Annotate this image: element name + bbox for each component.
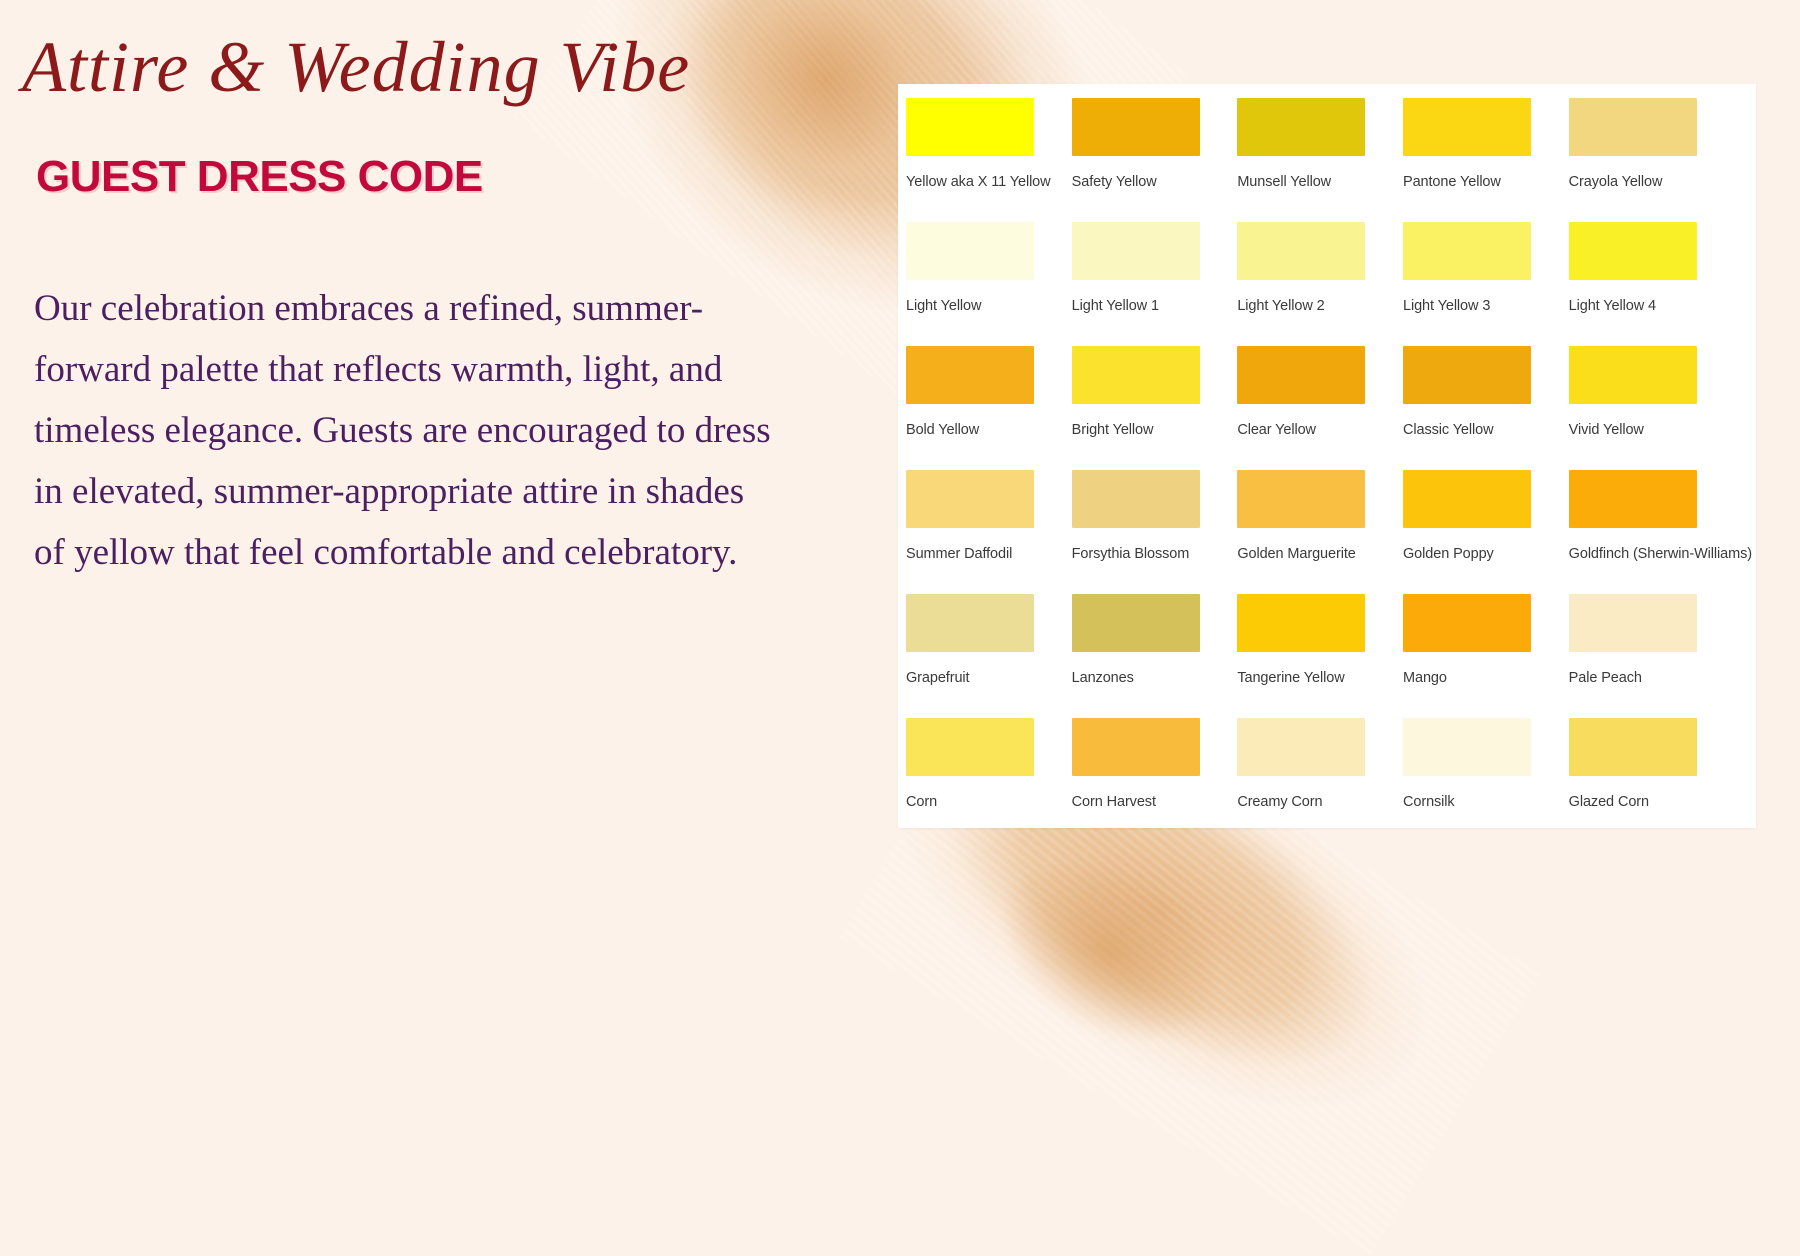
swatch-cell[interactable]: Bright Yellow xyxy=(1072,332,1238,456)
swatch-cell[interactable]: Light Yellow 3 xyxy=(1403,208,1569,332)
swatch-cell[interactable]: Munsell Yellow xyxy=(1237,84,1403,208)
color-swatch[interactable] xyxy=(1403,222,1531,280)
swatch-label: Glazed Corn xyxy=(1569,794,1752,810)
swatch-cell[interactable]: Corn Harvest xyxy=(1072,704,1238,828)
swatch-label: Cornsilk xyxy=(1403,794,1569,810)
swatch-label: Tangerine Yellow xyxy=(1237,670,1403,686)
color-palette-card: Yellow aka X 11 YellowSafety YellowMunse… xyxy=(898,84,1756,828)
swatch-label: Bold Yellow xyxy=(906,422,1072,438)
color-swatch[interactable] xyxy=(1072,470,1200,528)
color-swatch[interactable] xyxy=(1403,470,1531,528)
swatch-label: Goldfinch (Sherwin-Williams) xyxy=(1569,546,1752,562)
color-swatch[interactable] xyxy=(1569,594,1697,652)
section-heading: GUEST DRESS CODE xyxy=(36,152,483,202)
swatch-label: Light Yellow 3 xyxy=(1403,298,1569,314)
swatch-cell[interactable]: Cornsilk xyxy=(1403,704,1569,828)
swatch-cell[interactable]: Crayola Yellow xyxy=(1569,84,1752,208)
text-column: Attire & Wedding Vibe GUEST DRESS CODE O… xyxy=(0,0,880,939)
color-swatch[interactable] xyxy=(906,222,1034,280)
swatch-label: Golden Marguerite xyxy=(1237,546,1403,562)
color-swatch[interactable] xyxy=(1072,346,1200,404)
color-swatch[interactable] xyxy=(1403,98,1531,156)
color-swatch[interactable] xyxy=(1569,346,1697,404)
swatch-label: Lanzones xyxy=(1072,670,1238,686)
swatch-label: Classic Yellow xyxy=(1403,422,1569,438)
page-title: Attire & Wedding Vibe xyxy=(22,30,690,106)
color-swatch[interactable] xyxy=(1237,594,1365,652)
swatch-label: Clear Yellow xyxy=(1237,422,1403,438)
swatch-cell[interactable]: Glazed Corn xyxy=(1569,704,1752,828)
swatch-cell[interactable]: Summer Daffodil xyxy=(906,456,1072,580)
swatch-label: Creamy Corn xyxy=(1237,794,1403,810)
color-swatch[interactable] xyxy=(1072,718,1200,776)
color-swatch[interactable] xyxy=(906,718,1034,776)
color-swatch[interactable] xyxy=(1237,98,1365,156)
swatch-label: Corn Harvest xyxy=(1072,794,1238,810)
swatch-label: Munsell Yellow xyxy=(1237,174,1403,190)
color-swatch[interactable] xyxy=(1569,222,1697,280)
swatch-cell[interactable]: Light Yellow 2 xyxy=(1237,208,1403,332)
color-swatch[interactable] xyxy=(906,470,1034,528)
swatch-cell[interactable]: Goldfinch (Sherwin-Williams) xyxy=(1569,456,1752,580)
swatch-label: Summer Daffodil xyxy=(906,546,1072,562)
swatch-cell[interactable]: Pantone Yellow xyxy=(1403,84,1569,208)
color-swatch[interactable] xyxy=(1237,346,1365,404)
swatch-cell[interactable]: Golden Poppy xyxy=(1403,456,1569,580)
swatch-label: Light Yellow 1 xyxy=(1072,298,1238,314)
color-swatch[interactable] xyxy=(906,594,1034,652)
color-swatch[interactable] xyxy=(1072,594,1200,652)
color-swatch[interactable] xyxy=(1237,470,1365,528)
color-swatch[interactable] xyxy=(1237,718,1365,776)
swatch-grid: Yellow aka X 11 YellowSafety YellowMunse… xyxy=(906,84,1752,828)
swatch-label: Pale Peach xyxy=(1569,670,1752,686)
swatch-cell[interactable]: Classic Yellow xyxy=(1403,332,1569,456)
swatch-cell[interactable]: Vivid Yellow xyxy=(1569,332,1752,456)
brush-stroke-bottom-accent xyxy=(930,784,1291,1115)
swatch-cell[interactable]: Grapefruit xyxy=(906,580,1072,704)
swatch-label: Light Yellow 2 xyxy=(1237,298,1403,314)
color-swatch[interactable] xyxy=(1569,718,1697,776)
swatch-cell[interactable]: Light Yellow xyxy=(906,208,1072,332)
color-swatch[interactable] xyxy=(1403,346,1531,404)
swatch-cell[interactable]: Safety Yellow xyxy=(1072,84,1238,208)
swatch-cell[interactable]: Clear Yellow xyxy=(1237,332,1403,456)
color-swatch[interactable] xyxy=(906,346,1034,404)
body-paragraph: Our celebration embraces a refined, summ… xyxy=(34,278,774,583)
color-swatch[interactable] xyxy=(906,98,1034,156)
swatch-label: Mango xyxy=(1403,670,1569,686)
color-swatch[interactable] xyxy=(1072,222,1200,280)
swatch-cell[interactable]: Golden Marguerite xyxy=(1237,456,1403,580)
swatch-label: Safety Yellow xyxy=(1072,174,1238,190)
swatch-label: Light Yellow 4 xyxy=(1569,298,1752,314)
swatch-cell[interactable]: Tangerine Yellow xyxy=(1237,580,1403,704)
color-swatch[interactable] xyxy=(1403,718,1531,776)
swatch-cell[interactable]: Creamy Corn xyxy=(1237,704,1403,828)
swatch-label: Grapefruit xyxy=(906,670,1072,686)
swatch-cell[interactable]: Bold Yellow xyxy=(906,332,1072,456)
swatch-label: Pantone Yellow xyxy=(1403,174,1569,190)
swatch-label: Yellow aka X 11 Yellow xyxy=(906,174,1072,190)
color-swatch[interactable] xyxy=(1569,470,1697,528)
color-swatch[interactable] xyxy=(1237,222,1365,280)
swatch-cell[interactable]: Forsythia Blossom xyxy=(1072,456,1238,580)
swatch-label: Vivid Yellow xyxy=(1569,422,1752,438)
swatch-cell[interactable]: Pale Peach xyxy=(1569,580,1752,704)
swatch-label: Forsythia Blossom xyxy=(1072,546,1238,562)
color-swatch[interactable] xyxy=(1072,98,1200,156)
swatch-cell[interactable]: Yellow aka X 11 Yellow xyxy=(906,84,1072,208)
color-swatch[interactable] xyxy=(1569,98,1697,156)
swatch-label: Crayola Yellow xyxy=(1569,174,1752,190)
color-swatch[interactable] xyxy=(1403,594,1531,652)
swatch-label: Light Yellow xyxy=(906,298,1072,314)
swatch-cell[interactable]: Light Yellow 4 xyxy=(1569,208,1752,332)
swatch-label: Bright Yellow xyxy=(1072,422,1238,438)
swatch-label: Golden Poppy xyxy=(1403,546,1569,562)
swatch-label: Corn xyxy=(906,794,1072,810)
swatch-cell[interactable]: Lanzones xyxy=(1072,580,1238,704)
swatch-cell[interactable]: Light Yellow 1 xyxy=(1072,208,1238,332)
swatch-cell[interactable]: Mango xyxy=(1403,580,1569,704)
swatch-cell[interactable]: Corn xyxy=(906,704,1072,828)
